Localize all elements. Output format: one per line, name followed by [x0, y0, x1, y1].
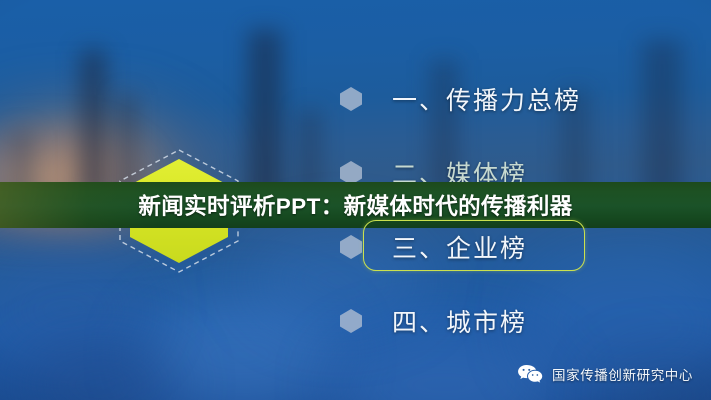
list-item-label: 一、传播力总榜: [392, 81, 581, 117]
wechat-badge: 国家传播创新研究中心: [517, 364, 693, 384]
hexagon-bullet-icon: [338, 86, 364, 112]
skyline-silhouette: [248, 30, 282, 205]
page-title: 新闻实时评析PPT：新媒体时代的传播利器: [0, 182, 711, 228]
list-item[interactable]: 四、城市榜: [338, 284, 668, 358]
hexagon-bullet-icon: [338, 308, 364, 334]
list-item-label: 三、企业榜: [392, 229, 527, 265]
presentation-slide: 一、传播力总榜 二、媒体榜 三、企业榜 四、城市榜 新闻实时评析PPT：新媒体时…: [0, 0, 711, 400]
skyline-silhouette: [80, 50, 106, 200]
wechat-icon: [517, 364, 543, 384]
list-item[interactable]: 一、传播力总榜: [338, 62, 668, 136]
wechat-badge-label: 国家传播创新研究中心: [552, 364, 693, 384]
list-item-label: 四、城市榜: [392, 303, 527, 339]
hexagon-bullet-icon: [338, 234, 364, 260]
